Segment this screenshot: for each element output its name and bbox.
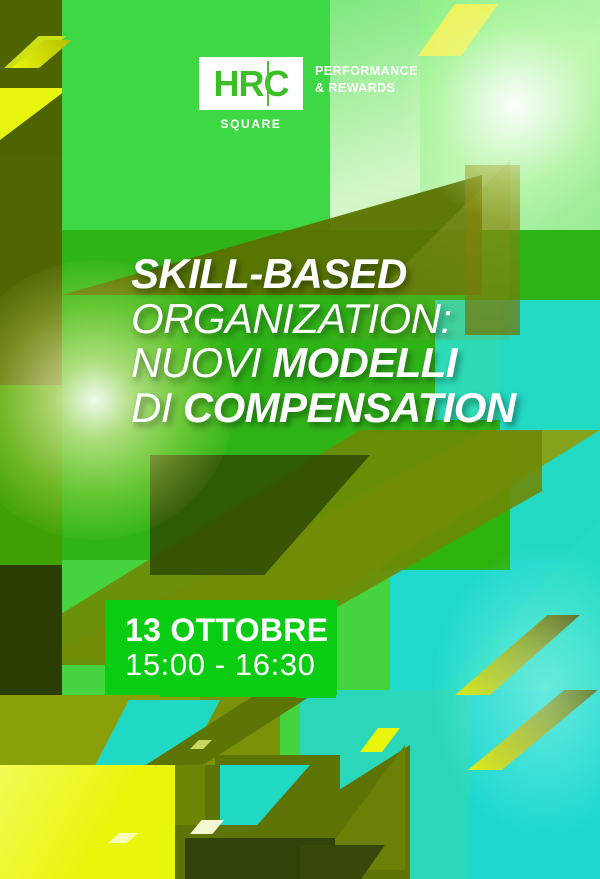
- logo-wordmark: HRC: [214, 66, 289, 102]
- event-time: 15:00 - 16:30: [125, 647, 316, 683]
- brand-tagline: PERFORMANCE & REWARDS: [315, 63, 418, 97]
- tagline-line-1: PERFORMANCE: [315, 63, 418, 80]
- title-line-2: ORGANIZATION:: [131, 297, 551, 342]
- logo-divider-icon: [267, 61, 269, 106]
- event-date: 13 OTTOBRE: [125, 612, 328, 649]
- poster-title: SKILL-BASED ORGANIZATION: NUOVI MODELLI …: [131, 252, 551, 430]
- title-line-4-light: DI: [131, 384, 183, 431]
- event-poster: HRC SQUARE PERFORMANCE & REWARDS SKILL-B…: [0, 0, 600, 879]
- hrc-square-logo: HRC SQUARE: [199, 57, 303, 131]
- logo-box: HRC: [199, 57, 303, 110]
- title-line-3: NUOVI MODELLI: [131, 341, 551, 386]
- poster-content: HRC SQUARE PERFORMANCE & REWARDS SKILL-B…: [0, 0, 600, 879]
- brand-lockup: HRC SQUARE PERFORMANCE & REWARDS: [199, 57, 418, 131]
- title-line-1: SKILL-BASED: [131, 252, 551, 297]
- title-line-3-bold: MODELLI: [272, 339, 457, 386]
- title-line-4: DI COMPENSATION: [131, 386, 551, 431]
- logo-subtitle: SQUARE: [199, 117, 303, 131]
- title-line-3-light: NUOVI: [131, 339, 272, 386]
- tagline-line-2: & REWARDS: [315, 80, 418, 97]
- title-line-4-bold: COMPENSATION: [183, 384, 516, 431]
